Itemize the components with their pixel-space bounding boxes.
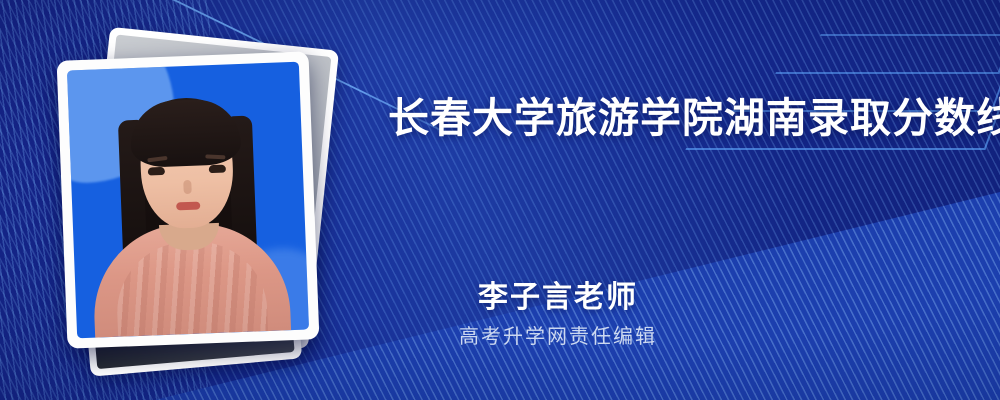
photo-card-stack [52, 42, 352, 362]
author-name: 李子言老师 [388, 272, 728, 316]
author-role: 高考升学网责任编辑 [388, 320, 728, 349]
portrait-mouth [176, 202, 200, 211]
portrait-figure [85, 78, 293, 337]
banner-root: 长春大学旅游学院湖南录取分数线 李子言老师 高考升学网责任编辑 [0, 0, 1000, 400]
portrait-photo [67, 62, 309, 339]
portrait-eye-right [209, 165, 226, 174]
portrait-eye-left [148, 167, 165, 176]
text-block: 长春大学旅游学院湖南录取分数线 李子言老师 高考升学网责任编辑 [388, 0, 988, 400]
page-title: 长春大学旅游学院湖南录取分数线 [388, 95, 968, 142]
portrait-nose [183, 180, 192, 194]
photo-card-front [57, 51, 320, 348]
